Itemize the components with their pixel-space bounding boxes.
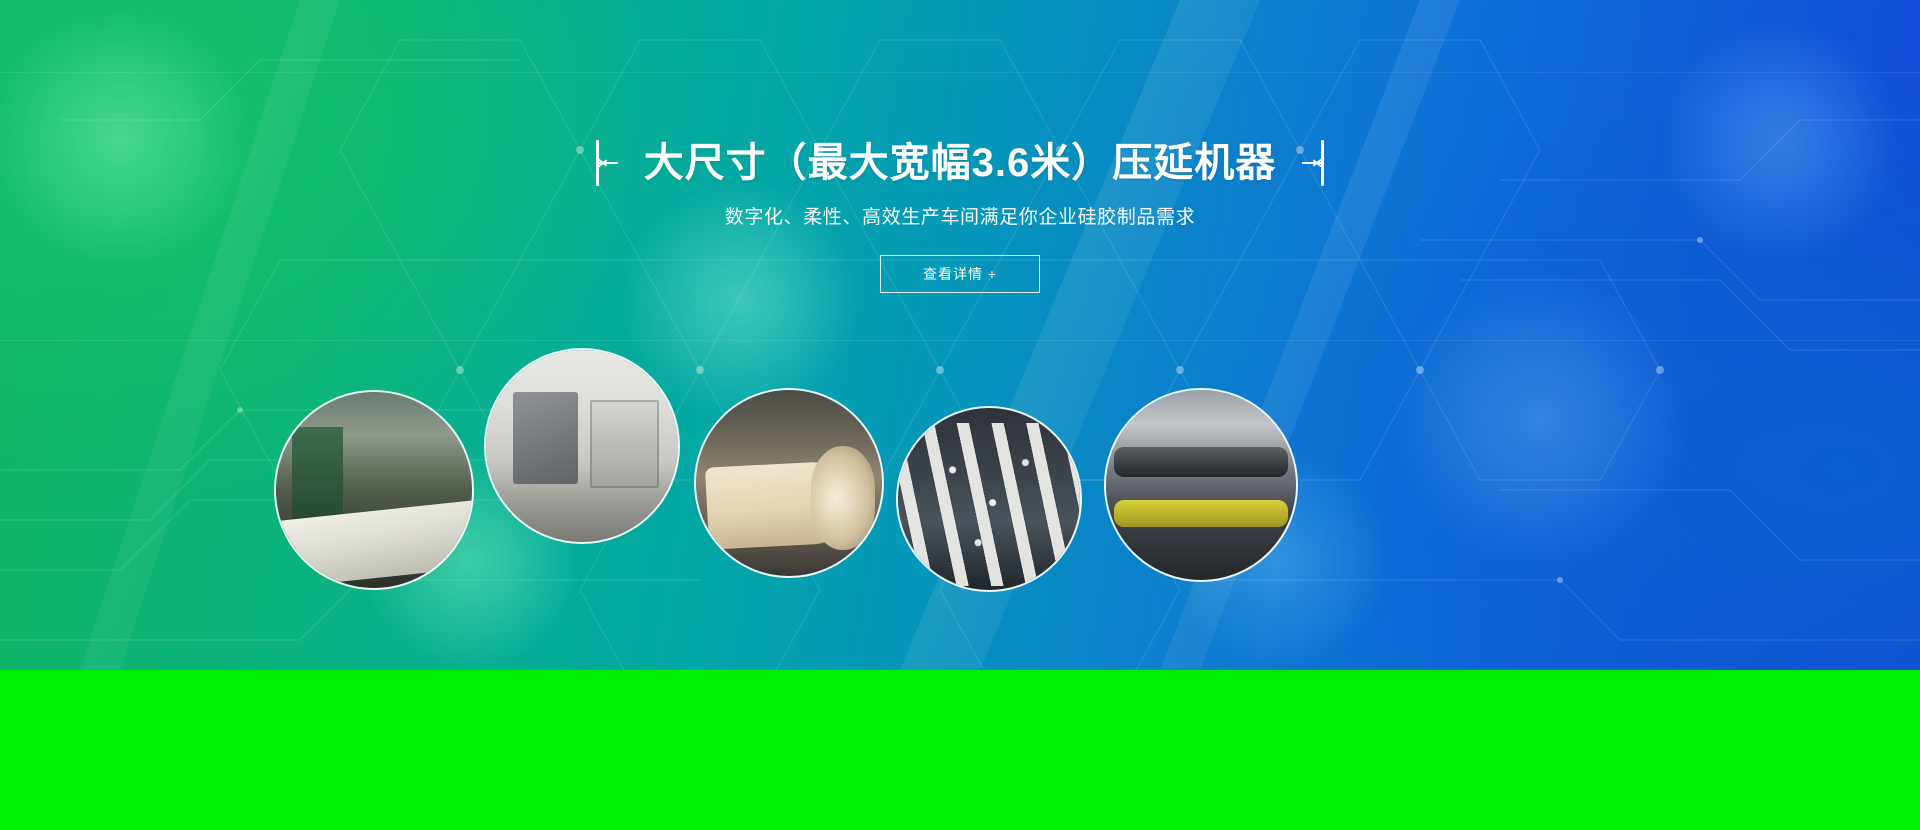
gallery-image-4 bbox=[898, 408, 1080, 590]
gallery-item-1[interactable] bbox=[274, 390, 474, 590]
gallery-item-5[interactable] bbox=[1104, 388, 1298, 582]
gallery-image-5 bbox=[1106, 390, 1296, 580]
gallery-image-1 bbox=[276, 392, 472, 588]
bottom-green-band bbox=[0, 670, 1920, 830]
banner-stage: 大尺寸（最大宽幅3.6米）压延机器 数字化、柔性、高效生产车间满足你企业硅胶制品… bbox=[0, 0, 1920, 830]
gallery-item-3[interactable] bbox=[694, 388, 884, 578]
gallery-item-4[interactable] bbox=[896, 406, 1082, 592]
gallery-image-2 bbox=[486, 350, 678, 542]
hero-banner: 大尺寸（最大宽幅3.6米）压延机器 数字化、柔性、高效生产车间满足你企业硅胶制品… bbox=[0, 0, 1920, 670]
gallery-image-3 bbox=[696, 390, 882, 576]
photo-gallery bbox=[0, 0, 1920, 670]
gallery-item-2[interactable] bbox=[484, 348, 680, 544]
